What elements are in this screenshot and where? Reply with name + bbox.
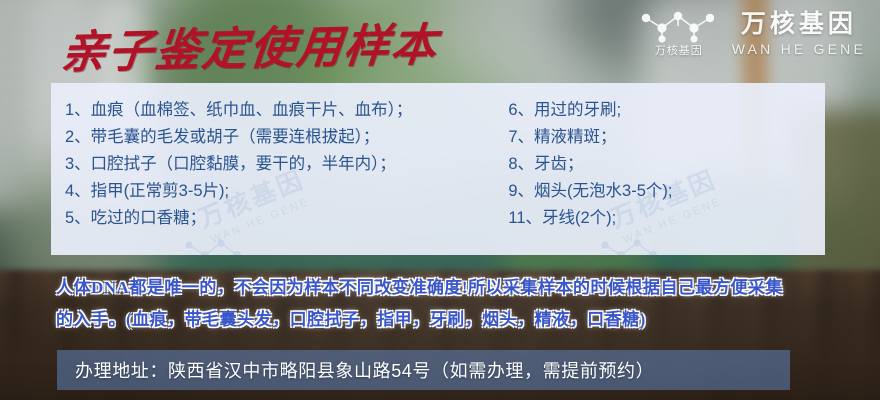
logo-name-cn: 万核基因 — [741, 12, 857, 37]
list-item: 3、口腔拭子（口腔黏膜，要干的，半年内）； — [65, 151, 500, 178]
page-title: 亲子鉴定使用样本 — [58, 8, 442, 81]
logo-name-en: WAN HE GENE — [732, 42, 866, 56]
list-item: 1、血痕（血棉签、纸巾血、血痕干片、血布）； — [65, 97, 500, 124]
list-item: 5、吃过的口香糖； — [65, 205, 500, 232]
list-item: 9、烟头(无泡水3-5个); — [508, 178, 825, 205]
brand-logo: 万核基因 万核基因 WAN HE GENE — [636, 8, 866, 60]
address-bar: 办理地址：陕西省汉中市略阳县象山路54号（如需办理，需提前预约） — [57, 350, 790, 390]
molecule-icon — [636, 8, 722, 44]
samples-panel: 万核基因 WAN HE GENE 万核基因 WAN HE GENE — [51, 83, 825, 255]
list-item: 7、精液精斑； — [508, 124, 825, 151]
samples-columns: 1、血痕（血棉签、纸巾血、血痕干片、血布）； 2、带毛囊的毛发或胡子（需要连根拔… — [51, 83, 825, 255]
list-item: 6、用过的牙刷; — [508, 97, 825, 124]
list-item: 2、带毛囊的毛发或胡子（需要连根拔起）； — [65, 124, 500, 151]
logo-wordmark: 万核基因 WAN HE GENE — [732, 12, 866, 56]
note-line-2: 的入手。(血痕，带毛囊头发，口腔拭子，指甲，牙刷，烟头，精液，口香糖) — [56, 304, 856, 336]
samples-right-column: 6、用过的牙刷; 7、精液精斑； 8、牙齿； 9、烟头(无泡水3-5个); 11… — [500, 97, 825, 255]
logo-mark: 万核基因 — [636, 8, 722, 60]
poster-canvas: 万核基因 万核基因 WAN HE GENE 亲子鉴定使用样本 万核基因 WAN … — [0, 0, 880, 400]
note-paragraph: 人体DNA都是唯一的，不会因为样本不同改变准确度!所以采集样本的时候根据自己最方… — [56, 272, 856, 336]
list-item: 8、牙齿； — [508, 151, 825, 178]
note-line-1: 人体DNA都是唯一的，不会因为样本不同改变准确度!所以采集样本的时候根据自己最方… — [56, 272, 856, 304]
list-item: 4、指甲(正常剪3-5片); — [65, 178, 500, 205]
list-item: 11、牙线(2个); — [508, 205, 825, 232]
address-text: 办理地址：陕西省汉中市略阳县象山路54号（如需办理，需提前预约） — [75, 357, 654, 383]
samples-left-column: 1、血痕（血棉签、纸巾血、血痕干片、血布）； 2、带毛囊的毛发或胡子（需要连根拔… — [51, 97, 500, 255]
logo-mark-caption: 万核基因 — [655, 42, 703, 58]
